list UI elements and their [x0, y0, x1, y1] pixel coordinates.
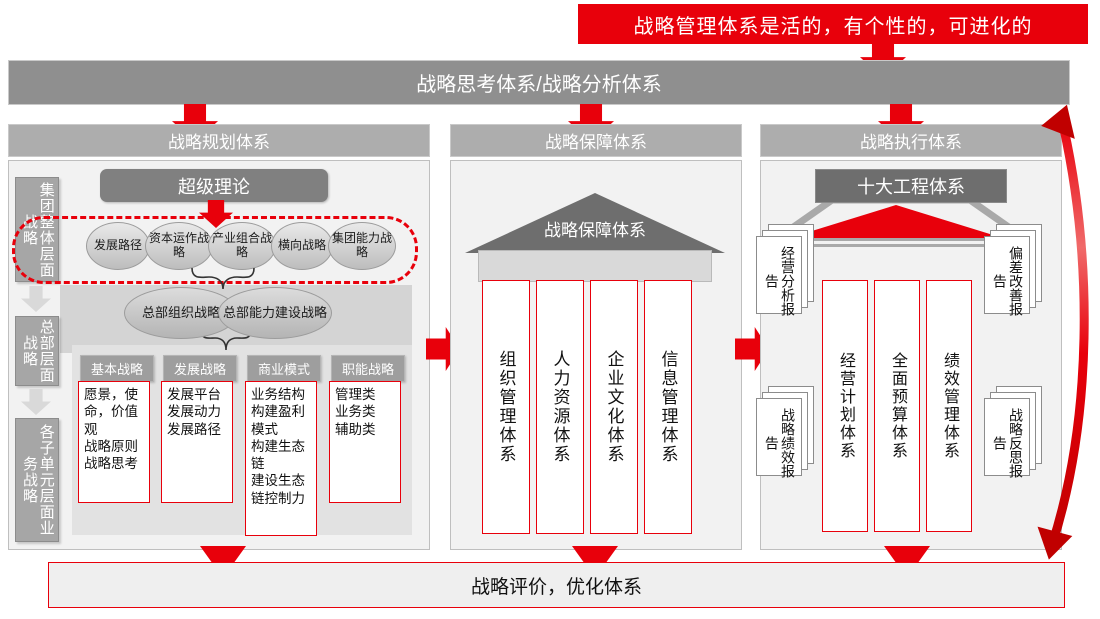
- planning-col-3-item-1: 业务结构: [251, 386, 312, 403]
- report-top-left-label: 经营分析报告: [764, 246, 796, 316]
- execution-pillar-1-label: 经营计划体系: [833, 352, 857, 460]
- planning-col-header-2-label: 发展战略: [174, 359, 226, 378]
- planning-col-header-4-label: 职能战略: [342, 359, 394, 378]
- planning-col-2-item-3: 发展路径: [167, 421, 228, 438]
- planning-col-3-item-3: 构建生态链: [251, 438, 312, 473]
- level-box-hq: 总部层面战略: [15, 316, 59, 386]
- top-red-banner: 战略管理体系是活的，有个性的，可进化的: [578, 4, 1088, 44]
- execution-pillar-1: 经营计划体系: [822, 280, 868, 532]
- planning-col-3-item-2: 构建盈利模式: [251, 403, 312, 438]
- top-bar-label: 战略思考体系/战略分析体系: [416, 68, 662, 97]
- planning-col-header-3: 商业模式: [247, 355, 321, 382]
- super-theory-box: 超级理论: [100, 169, 328, 202]
- section-header-planning-label: 战略规划体系: [168, 128, 270, 153]
- planning-col-1-item-3: 战略思考: [84, 455, 145, 472]
- guarantee-pillar-2-label: 人力资源体系: [548, 350, 573, 464]
- group-strategy-ellipse-3: 产业组合战略: [208, 222, 276, 270]
- guarantee-pillar-1: 组织管理体系: [482, 280, 530, 534]
- guarantee-pillar-2: 人力资源体系: [536, 280, 584, 534]
- brace-upper-icon: [188, 268, 258, 290]
- planning-col-header-3-label: 商业模式: [258, 359, 310, 378]
- execution-roof-label-box: 十大工程体系: [815, 169, 1007, 203]
- group-strategy-ellipse-1: 发展路径: [86, 222, 150, 270]
- planning-col-body-3: 业务结构 构建盈利模式 构建生态链 建设生态链控制力: [245, 381, 317, 536]
- top-banner-text: 战略管理体系是活的，有个性的，可进化的: [634, 10, 1033, 39]
- planning-col-4-item-1: 管理类: [335, 386, 396, 403]
- section-header-guarantee: 战略保障体系: [450, 124, 742, 157]
- report-bottom-left-label-wrap: 战略绩效报告: [760, 404, 796, 482]
- level-box-units-label: 各子单元层面业务战略: [20, 419, 54, 541]
- execution-pillar-2: 全面预算体系: [874, 280, 920, 532]
- bottom-bar-label: 战略评价，优化体系: [471, 572, 642, 599]
- planning-col-1-item-2: 战略原则: [84, 438, 145, 455]
- section-header-execution: 战略执行体系: [760, 124, 1062, 157]
- guarantee-pillar-3-label: 企业文化体系: [602, 350, 627, 464]
- bottom-bar-evaluation: 战略评价，优化体系: [48, 562, 1065, 608]
- group-strategy-ellipse-5-label: 集团能力战略: [329, 232, 395, 259]
- planning-col-body-2: 发展平台 发展动力 发展路径: [161, 381, 233, 503]
- planning-col-header-1: 基本战略: [80, 355, 154, 382]
- section-header-planning: 战略规划体系: [8, 124, 430, 157]
- guarantee-pillar-4-label: 信息管理体系: [656, 350, 681, 464]
- guarantee-roof-label: 战略保障体系: [544, 221, 646, 240]
- guarantee-roof-label-wrap: 战略保障体系: [495, 216, 695, 241]
- level-box-units: 各子单元层面业务战略: [15, 418, 59, 542]
- guarantee-pillar-1-label: 组织管理体系: [494, 350, 519, 464]
- report-bottom-right-label-wrap: 战略反思报告: [988, 404, 1024, 482]
- section-header-execution-label: 战略执行体系: [860, 128, 962, 153]
- guarantee-pillar-4: 信息管理体系: [644, 280, 692, 534]
- execution-pillar-3-label: 绩效管理体系: [937, 352, 961, 460]
- report-stack-bottom-left: 战略绩效报告: [756, 386, 818, 482]
- planning-col-2-item-1: 发展平台: [167, 386, 228, 403]
- report-stack-top-left: 经营分析报告: [756, 224, 818, 320]
- hq-strategy-ellipse-1-label: 总部组织战略: [142, 305, 220, 320]
- report-top-left-label-wrap: 经营分析报告: [760, 242, 796, 320]
- planning-col-body-1: 愿景，使命，价值观 战略原则 战略思考: [78, 381, 150, 503]
- feedback-loop-arrow-icon: [1020, 90, 1100, 580]
- group-strategy-ellipse-5: 集团能力战略: [328, 222, 396, 270]
- planning-col-header-1-label: 基本战略: [91, 359, 143, 378]
- planning-col-4-item-3: 辅助类: [335, 421, 396, 438]
- planning-col-body-4: 管理类 业务类 辅助类: [329, 381, 401, 503]
- report-top-right-label-wrap: 偏差改善报告: [988, 242, 1024, 320]
- group-strategy-ellipse-4-label: 横向战略: [278, 239, 326, 253]
- planning-col-header-4: 职能战略: [331, 355, 405, 382]
- group-strategy-ellipse-1-label: 发展路径: [94, 239, 142, 253]
- group-strategy-ellipse-2-label: 资本运作战略: [146, 232, 212, 259]
- planning-col-3-item-4: 建设生态链控制力: [251, 472, 312, 507]
- top-bar-thinking-system: 战略思考体系/战略分析体系: [8, 60, 1070, 105]
- super-theory-label: 超级理论: [178, 173, 250, 199]
- planning-col-2-item-2: 发展动力: [167, 403, 228, 420]
- guarantee-pillar-3: 企业文化体系: [590, 280, 638, 534]
- section-header-guarantee-label: 战略保障体系: [545, 128, 647, 153]
- level-box-hq-label: 总部层面战略: [20, 317, 54, 385]
- guarantee-lintel: [478, 250, 712, 282]
- hq-strategy-ellipse-2: 总部能力建设战略: [218, 287, 332, 339]
- planning-col-1-item-1: 愿景，使命，价值观: [84, 386, 145, 438]
- group-strategy-ellipse-4: 横向战略: [271, 222, 333, 270]
- hq-strategy-ellipse-2-label: 总部能力建设战略: [223, 305, 327, 320]
- execution-pillar-2-label: 全面预算体系: [885, 352, 909, 460]
- planning-col-4-item-2: 业务类: [335, 403, 396, 420]
- execution-roof-label: 十大工程体系: [857, 173, 965, 199]
- planning-col-header-2: 发展战略: [163, 355, 237, 382]
- group-strategy-ellipse-2: 资本运作战略: [145, 222, 213, 270]
- group-strategy-ellipse-3-label: 产业组合战略: [209, 232, 275, 259]
- report-bottom-left-label: 战略绩效报告: [764, 408, 796, 478]
- execution-pillar-3: 绩效管理体系: [926, 280, 972, 532]
